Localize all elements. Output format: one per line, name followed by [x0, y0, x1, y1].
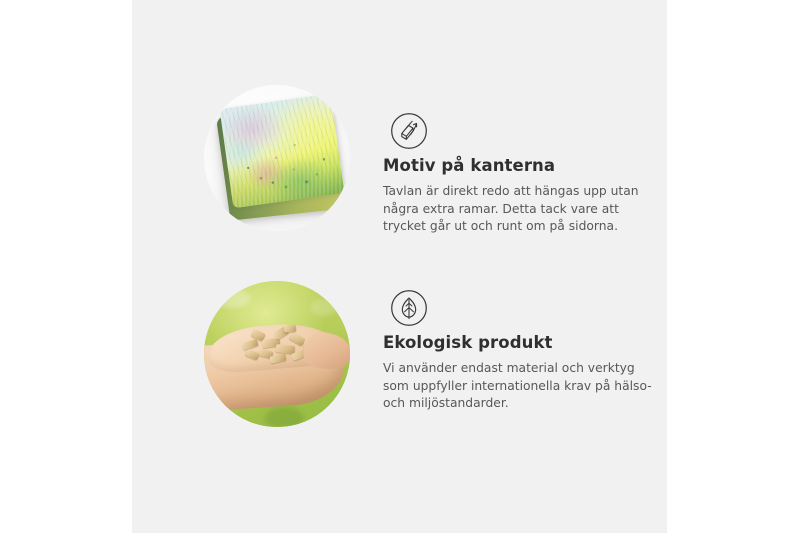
canvas-print-corner-photo	[204, 85, 350, 231]
feature-title: Ekologisk produkt	[383, 333, 663, 353]
feature-text-block: Motiv på kanterna Tavlan är direkt redo …	[383, 156, 663, 236]
hands-holding-wood-chips-photo	[204, 281, 350, 427]
photo-backdrop	[204, 85, 350, 231]
promo-graphic: Motiv på kanterna Tavlan är direkt redo …	[0, 0, 800, 533]
content-panel	[132, 0, 667, 533]
leaf-icon	[390, 289, 428, 327]
feature-description: Tavlan är direkt redo att hängas upp uta…	[383, 183, 663, 236]
canvas-front-face	[220, 94, 345, 209]
feature-title: Motiv på kanterna	[383, 156, 663, 176]
feature-description: Vi använder endast material och verktyg …	[383, 360, 663, 413]
feature-text-block: Ekologisk produkt Vi använder endast mat…	[383, 333, 663, 413]
canvas-edge-wrap-icon	[390, 112, 428, 150]
